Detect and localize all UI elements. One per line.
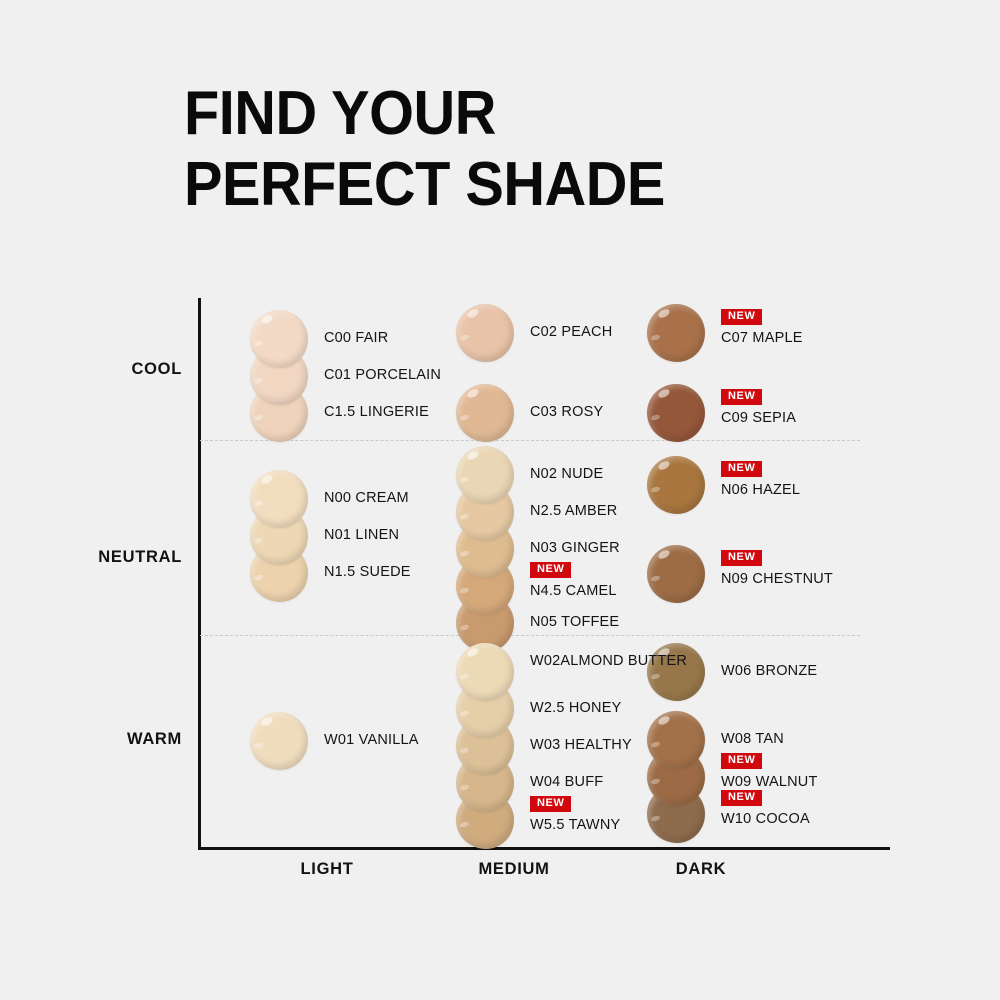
page-title: FIND YOUR PERFECT SHADE bbox=[184, 84, 884, 216]
shade-title: TAWNY bbox=[565, 817, 621, 833]
shade-droplet-icon bbox=[456, 446, 514, 504]
shade-code: C1.5 bbox=[324, 404, 355, 420]
shade-name-line: W10 COCOA bbox=[721, 811, 810, 827]
shade-label[interactable]: N05 TOFFEE bbox=[530, 614, 619, 630]
tone-label-cool: COOL bbox=[2, 360, 182, 379]
shade-code: N1.5 bbox=[324, 564, 355, 580]
shade-title: VANILLA bbox=[354, 732, 418, 748]
x-axis-line bbox=[198, 847, 890, 850]
shade-name-line: W08 TAN bbox=[721, 731, 784, 747]
shade-code: N05 bbox=[530, 614, 557, 630]
shade-label[interactable]: W04 BUFF bbox=[530, 774, 603, 790]
shade-swatch[interactable] bbox=[456, 304, 516, 364]
shade-droplet-icon bbox=[250, 470, 308, 528]
shade-title: GINGER bbox=[557, 540, 620, 556]
shade-name-line: C1.5 LINGERIE bbox=[324, 404, 429, 420]
shade-swatch[interactable] bbox=[250, 470, 310, 530]
shade-name-line: C09 SEPIA bbox=[721, 410, 796, 426]
shade-droplet-icon bbox=[647, 711, 705, 769]
shade-finder-page: FIND YOUR PERFECT SHADE COOL NEUTRAL WAR… bbox=[0, 0, 1000, 1000]
new-badge: NEW bbox=[721, 790, 762, 806]
new-badge: NEW bbox=[530, 562, 571, 578]
shade-title: TOFFEE bbox=[557, 614, 619, 630]
shade-label[interactable]: C1.5 LINGERIE bbox=[324, 404, 429, 420]
shade-code: N4.5 bbox=[530, 583, 561, 599]
shade-code: W08 bbox=[721, 731, 751, 747]
shade-droplet-icon bbox=[647, 545, 705, 603]
shade-code: N03 bbox=[530, 540, 557, 556]
shade-label[interactable]: N00 CREAM bbox=[324, 490, 409, 506]
shade-code: C02 bbox=[530, 324, 557, 340]
shade-label[interactable]: W08 TAN bbox=[721, 731, 784, 747]
depth-label-dark: DARK bbox=[601, 860, 801, 879]
shade-title: NUDE bbox=[557, 466, 603, 482]
shade-name-line: C01 PORCELAIN bbox=[324, 367, 441, 383]
shade-swatch[interactable] bbox=[456, 384, 516, 444]
shade-swatch[interactable] bbox=[250, 310, 310, 370]
shade-swatch[interactable] bbox=[647, 643, 707, 703]
shade-title: PORCELAIN bbox=[351, 367, 441, 383]
shade-name-line: N4.5 CAMEL bbox=[530, 583, 617, 599]
shade-name-line: N09 CHESTNUT bbox=[721, 571, 833, 587]
shade-name-line: W06 BRONZE bbox=[721, 663, 817, 679]
shade-code: W02 bbox=[530, 653, 560, 669]
shade-name-line: N06 HAZEL bbox=[721, 482, 800, 498]
shade-code: W06 bbox=[721, 663, 751, 679]
shade-title: PEACH bbox=[557, 324, 612, 340]
shade-code: N00 bbox=[324, 490, 351, 506]
shade-label[interactable]: N02 NUDE bbox=[530, 466, 603, 482]
shade-label[interactable]: C01 PORCELAIN bbox=[324, 367, 441, 383]
shade-label[interactable]: N01 LINEN bbox=[324, 527, 399, 543]
shade-label[interactable]: NEWN06 HAZEL bbox=[721, 458, 800, 498]
shade-code: C03 bbox=[530, 404, 557, 420]
shade-code: W2.5 bbox=[530, 700, 565, 716]
shade-code: C07 bbox=[721, 330, 748, 346]
shade-label[interactable]: C03 ROSY bbox=[530, 404, 603, 420]
tone-label-neutral: NEUTRAL bbox=[2, 548, 182, 567]
shade-title: HONEY bbox=[565, 700, 622, 716]
shade-title: LINEN bbox=[351, 527, 399, 543]
shade-swatch[interactable] bbox=[647, 456, 707, 516]
shade-name-line: N05 TOFFEE bbox=[530, 614, 619, 630]
shade-code: W10 bbox=[721, 811, 751, 827]
new-badge: NEW bbox=[721, 550, 762, 566]
shade-label[interactable]: NEWW5.5 TAWNY bbox=[530, 793, 620, 833]
new-badge: NEW bbox=[721, 389, 762, 405]
shade-name-line: C02 PEACH bbox=[530, 324, 612, 340]
shade-code: N02 bbox=[530, 466, 557, 482]
shade-swatch[interactable] bbox=[647, 711, 707, 771]
shade-swatch[interactable] bbox=[456, 446, 516, 506]
shade-droplet-icon bbox=[456, 304, 514, 362]
new-badge: NEW bbox=[721, 753, 762, 769]
shade-title: HAZEL bbox=[748, 482, 800, 498]
shade-title: MAPLE bbox=[748, 330, 802, 346]
shade-code: W01 bbox=[324, 732, 354, 748]
shade-label[interactable]: W06 BRONZE bbox=[721, 663, 817, 679]
shade-name-line: W5.5 TAWNY bbox=[530, 817, 620, 833]
shade-title: SEPIA bbox=[748, 410, 796, 426]
shade-code: W5.5 bbox=[530, 817, 565, 833]
shade-swatch[interactable] bbox=[647, 545, 707, 605]
shade-swatch[interactable] bbox=[456, 643, 516, 703]
shade-label[interactable]: C00 FAIR bbox=[324, 330, 388, 346]
shade-title: CAMEL bbox=[561, 583, 616, 599]
title-line-2: PERFECT SHADE bbox=[184, 155, 835, 216]
row-divider-neutral-warm bbox=[200, 635, 860, 636]
shade-code: W04 bbox=[530, 774, 560, 790]
shade-name-line: W03 HEALTHY bbox=[530, 737, 632, 753]
title-line-1: FIND YOUR bbox=[184, 84, 835, 145]
shade-title: BRONZE bbox=[751, 663, 817, 679]
shade-label[interactable]: NEWN4.5 CAMEL bbox=[530, 559, 617, 599]
shade-title: BUFF bbox=[560, 774, 603, 790]
shade-droplet-icon bbox=[647, 384, 705, 442]
shade-label[interactable]: NEWC07 MAPLE bbox=[721, 306, 803, 346]
shade-droplet-icon bbox=[250, 712, 308, 770]
shade-label[interactable]: N03 GINGER bbox=[530, 540, 620, 556]
shade-title: LINGERIE bbox=[355, 404, 429, 420]
shade-title: CREAM bbox=[351, 490, 409, 506]
shade-code: N2.5 bbox=[530, 503, 561, 519]
depth-label-light: LIGHT bbox=[227, 860, 427, 879]
shade-code: N09 bbox=[721, 571, 748, 587]
shade-name-line: W02ALMOND BUTTER bbox=[530, 653, 687, 669]
shade-code: N06 bbox=[721, 482, 748, 498]
y-axis-line bbox=[198, 298, 201, 850]
shade-label[interactable]: W02ALMOND BUTTER bbox=[530, 653, 687, 669]
new-badge: NEW bbox=[721, 309, 762, 325]
new-badge: NEW bbox=[530, 796, 571, 812]
shade-label[interactable]: NEWN09 CHESTNUT bbox=[721, 547, 833, 587]
shade-label[interactable]: W03 HEALTHY bbox=[530, 737, 632, 753]
shade-swatch[interactable] bbox=[647, 304, 707, 364]
shade-name-line: N02 NUDE bbox=[530, 466, 603, 482]
shade-name-line: N2.5 AMBER bbox=[530, 503, 617, 519]
shade-name-line: N1.5 SUEDE bbox=[324, 564, 411, 580]
shade-label[interactable]: W01 VANILLA bbox=[324, 732, 419, 748]
shade-code: N01 bbox=[324, 527, 351, 543]
shade-name-line: N00 CREAM bbox=[324, 490, 409, 506]
shade-title: FAIR bbox=[351, 330, 388, 346]
shade-name-line: N03 GINGER bbox=[530, 540, 620, 556]
new-badge: NEW bbox=[721, 461, 762, 477]
shade-swatch[interactable] bbox=[647, 384, 707, 444]
shade-title: HEALTHY bbox=[560, 737, 631, 753]
shade-droplet-icon bbox=[647, 304, 705, 362]
shade-title: ALMOND BUTTER bbox=[560, 653, 687, 669]
shade-name-line: C03 ROSY bbox=[530, 404, 603, 420]
tone-label-warm: WARM bbox=[2, 730, 182, 749]
shade-title: TAN bbox=[751, 731, 784, 747]
shade-title: COCOA bbox=[751, 811, 809, 827]
shade-label[interactable]: W2.5 HONEY bbox=[530, 700, 621, 716]
shade-code: C01 bbox=[324, 367, 351, 383]
shade-droplet-icon bbox=[647, 456, 705, 514]
shade-label[interactable]: NEWW09 WALNUT bbox=[721, 750, 818, 790]
shade-droplet-icon bbox=[250, 310, 308, 368]
shade-title: ROSY bbox=[557, 404, 603, 420]
shade-label[interactable]: NEWC09 SEPIA bbox=[721, 386, 796, 426]
shade-swatch[interactable] bbox=[250, 712, 310, 772]
shade-label[interactable]: NEWW10 COCOA bbox=[721, 787, 810, 827]
shade-chart: COOL NEUTRAL WARM LIGHT MEDIUM DARK C00 … bbox=[198, 298, 890, 850]
shade-label[interactable]: N1.5 SUEDE bbox=[324, 564, 411, 580]
shade-name-line: W01 VANILLA bbox=[324, 732, 419, 748]
shade-droplet-icon bbox=[456, 643, 514, 701]
shade-droplet-icon bbox=[647, 643, 705, 701]
shade-title: AMBER bbox=[561, 503, 617, 519]
shade-title: CHESTNUT bbox=[748, 571, 833, 587]
shade-name-line: C00 FAIR bbox=[324, 330, 388, 346]
shade-label[interactable]: N2.5 AMBER bbox=[530, 503, 617, 519]
shade-code: C00 bbox=[324, 330, 351, 346]
shade-name-line: N01 LINEN bbox=[324, 527, 399, 543]
shade-code: W03 bbox=[530, 737, 560, 753]
shade-name-line: C07 MAPLE bbox=[721, 330, 803, 346]
shade-name-line: W2.5 HONEY bbox=[530, 700, 621, 716]
shade-name-line: W04 BUFF bbox=[530, 774, 603, 790]
shade-droplet-icon bbox=[456, 384, 514, 442]
shade-code: C09 bbox=[721, 410, 748, 426]
shade-title: SUEDE bbox=[355, 564, 410, 580]
depth-label-medium: MEDIUM bbox=[414, 860, 614, 879]
shade-label[interactable]: C02 PEACH bbox=[530, 324, 612, 340]
